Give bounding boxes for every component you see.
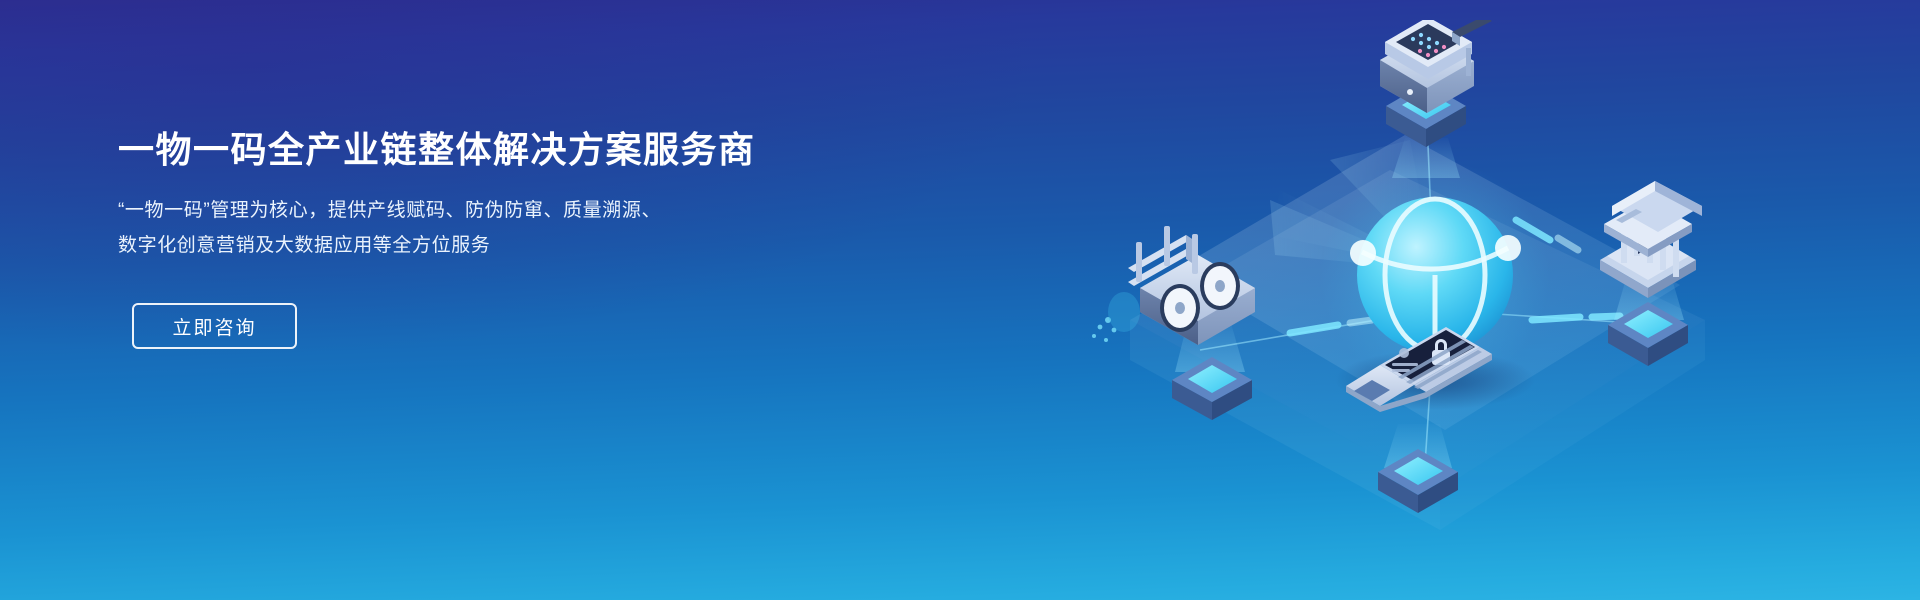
isometric-network-illustration	[1080, 20, 1780, 580]
hero-copy-block: 一物一码全产业链整体解决方案服务商 “一物一码”管理为核心，提供产线赋码、防伪防…	[118, 128, 838, 349]
page-title: 一物一码全产业链整体解决方案服务商	[118, 128, 838, 171]
node-bank-building	[1600, 181, 1702, 366]
subtitle-line-2: 数字化创意营销及大数据应用等全方位服务	[118, 228, 838, 263]
hero-subtitle: “一物一码”管理为核心，提供产线赋码、防伪防窜、质量溯源、 数字化创意营销及大数…	[118, 193, 838, 263]
pos-register-icon	[1380, 20, 1492, 113]
consult-now-button[interactable]: 立即咨询	[132, 303, 297, 349]
hero-banner: 一物一码全产业链整体解决方案服务商 “一物一码”管理为核心，提供产线赋码、防伪防…	[0, 0, 1920, 600]
subtitle-line-1: “一物一码”管理为核心，提供产线赋码、防伪防窜、质量溯源、	[118, 193, 838, 228]
